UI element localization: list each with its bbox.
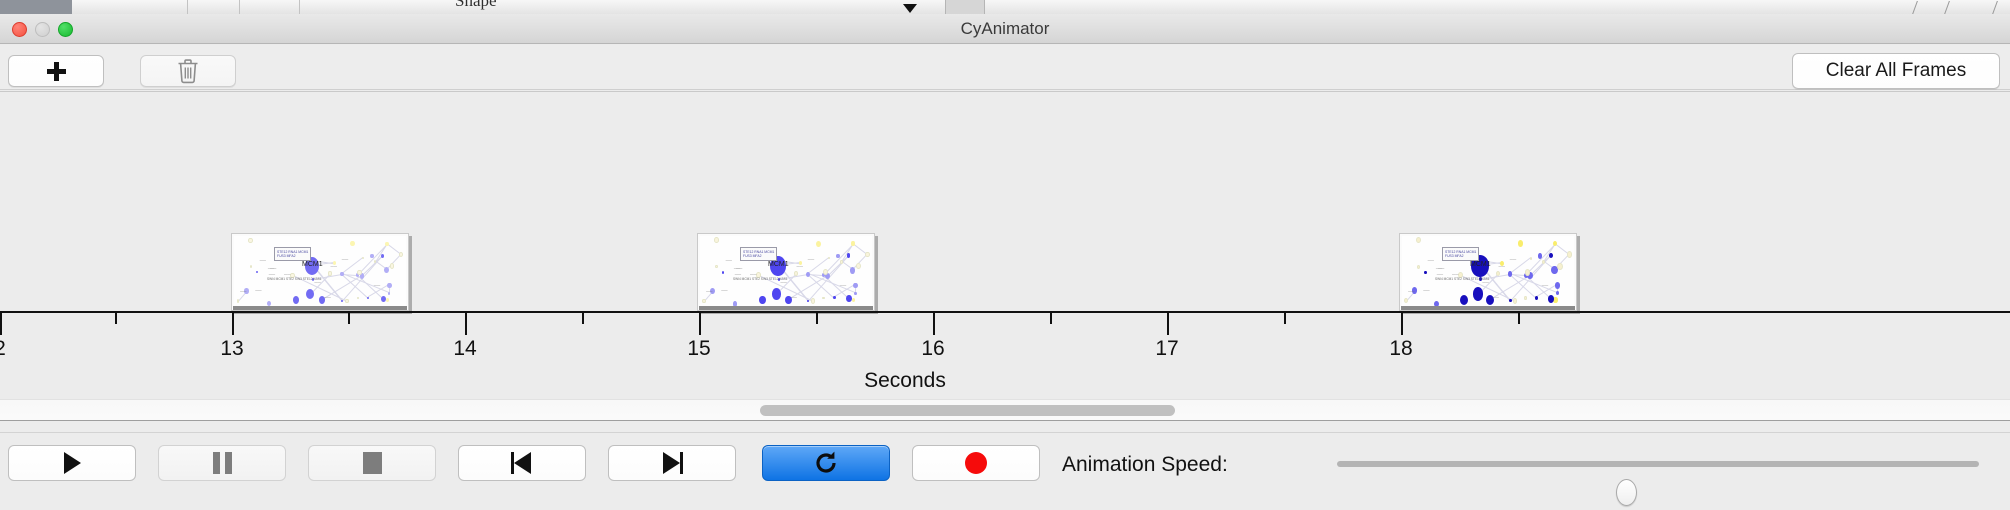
network-node	[390, 263, 394, 269]
play-icon	[64, 452, 81, 474]
network-node	[714, 237, 718, 243]
stop-icon	[363, 452, 382, 474]
network-node	[1542, 260, 1545, 264]
record-button[interactable]	[912, 445, 1040, 481]
stop-button[interactable]	[308, 445, 436, 481]
timeline-tick-major	[1401, 313, 1403, 335]
network-node-label: ——	[1510, 257, 1516, 261]
network-node	[772, 288, 781, 299]
playback-control-bar: Animation Speed:	[0, 432, 2010, 510]
animation-speed-slider[interactable]	[1337, 461, 1979, 467]
keyframe-thumbnail[interactable]: ————————————————————————STE12 RNA1 MCM1 …	[231, 233, 409, 311]
network-node-label: ——	[721, 288, 727, 292]
keyframe-network-view: ————————————————————————STE12 RNA1 MCM1 …	[700, 236, 872, 308]
background-window-label: Shape	[455, 0, 497, 11]
timeline-scrollbar-thumb[interactable]	[760, 405, 1175, 416]
window-title: CyAnimator	[0, 14, 2010, 44]
network-node	[759, 296, 766, 305]
network-node-label: ——	[840, 283, 846, 287]
network-node	[1530, 257, 1532, 260]
network-node-label: ——	[1542, 283, 1548, 287]
network-node	[1417, 265, 1420, 269]
add-frame-button[interactable]	[8, 55, 104, 87]
delete-frame-button[interactable]	[140, 55, 236, 87]
background-window-slash-icon	[1908, 1, 1924, 14]
network-node	[1556, 291, 1559, 295]
network-node	[386, 298, 389, 302]
network-node	[388, 292, 390, 295]
timeline-tick-minor	[816, 313, 818, 324]
network-caption-label: SWI4 MCM1 STE2 SIN3 STE12 KSS1	[733, 277, 788, 281]
network-node-label: ——	[269, 272, 275, 276]
network-node	[385, 242, 388, 246]
cyanimator-window: Shape CyAnimator Clear All Frames	[0, 0, 2010, 510]
network-node	[350, 241, 354, 246]
network-node	[1509, 299, 1512, 302]
pause-icon	[213, 452, 232, 474]
network-node-label: ——	[331, 264, 337, 268]
network-node	[702, 299, 705, 303]
timeline-tick-major	[0, 313, 2, 335]
network-annotation-box: STE12 RNA1 MCM1 FUS3 MFA2	[1442, 247, 1479, 261]
network-node	[1555, 282, 1560, 289]
network-node-label: ——	[1428, 258, 1434, 262]
network-node	[722, 271, 724, 274]
timeline-tick-minor	[115, 313, 117, 324]
network-node	[306, 289, 314, 299]
network-node-label: ——	[268, 266, 274, 270]
keyframe-base-bar	[233, 306, 407, 310]
timeline-tick-major	[933, 313, 935, 335]
axis-title-label: Seconds	[864, 369, 946, 392]
timeline-tick-minor	[348, 313, 350, 324]
network-node	[840, 260, 843, 263]
network-node	[370, 254, 373, 258]
network-node	[345, 299, 349, 304]
network-node	[381, 254, 384, 258]
network-node	[381, 296, 386, 302]
timeline-tick-label: 13	[220, 337, 243, 361]
network-node-label: ——	[284, 272, 290, 276]
timeline-scrollbar[interactable]	[0, 399, 2010, 421]
timeline-tick-label: 14	[453, 337, 476, 361]
network-node-label: ——	[342, 257, 348, 261]
network-node-label: ——	[1437, 272, 1443, 276]
network-node	[1424, 271, 1426, 274]
trash-icon	[176, 58, 200, 84]
network-node-label: ——	[260, 258, 266, 262]
network-node	[850, 267, 855, 274]
network-annotation-box: STE12 RNA1 MCM1 FUS3 MFA2	[740, 247, 777, 261]
timeline-tick-minor	[582, 313, 584, 324]
network-node	[1473, 287, 1484, 301]
network-node	[853, 283, 858, 289]
network-node	[847, 253, 850, 257]
pause-button[interactable]	[158, 445, 286, 481]
network-node	[794, 271, 798, 276]
animation-speed-label: Animation Speed:	[1062, 453, 1228, 477]
keyframe-thumbnail[interactable]: ————————————————————————STE12 RNA1 MCM1 …	[697, 233, 875, 311]
network-node	[1460, 295, 1468, 306]
network-node	[852, 298, 855, 302]
network-node	[1557, 263, 1563, 270]
network-node	[1549, 253, 1553, 258]
network-node	[806, 272, 810, 277]
timeline-tick-major	[699, 313, 701, 335]
network-node-label: ——	[706, 289, 712, 293]
background-window-slash-icon	[1940, 1, 1956, 14]
timeline-tick-major	[232, 313, 234, 335]
background-window-caret-icon	[903, 4, 917, 13]
skip-previous-icon	[511, 452, 533, 474]
timeline-tick-label: 18	[1389, 337, 1412, 361]
background-window-segment	[150, 0, 188, 14]
skip-to-start-button[interactable]	[458, 445, 586, 481]
network-node	[816, 241, 821, 247]
background-window-slash-icon	[1988, 1, 2004, 14]
network-caption-label: SWI4 MCM1 STE2 SIN3 STE12 KSS1	[267, 277, 322, 281]
timeline-tick-minor	[1518, 313, 1520, 324]
network-node	[1553, 297, 1557, 302]
network-node-label: ——	[726, 258, 732, 262]
animation-speed-slider-thumb[interactable]	[1616, 479, 1637, 506]
network-node	[1524, 296, 1527, 299]
loop-icon	[813, 450, 839, 476]
keyframe-network-view: ————————————————————————STE12 RNA1 MCM1 …	[234, 236, 406, 308]
network-node-label: ——	[1408, 289, 1414, 293]
network-node	[833, 296, 835, 299]
network-hub-label: MCM1	[1470, 261, 1491, 268]
plus-icon	[46, 61, 66, 81]
network-node-label: ——	[1423, 288, 1429, 292]
network-annotation-box: STE12 RNA1 MCM1 FUS3 MFA2	[274, 247, 311, 261]
network-node-label: ——	[808, 257, 814, 261]
network-node	[828, 257, 830, 260]
timeline-tick-major	[1167, 313, 1169, 335]
network-node	[1538, 253, 1542, 258]
network-node-label: ——	[797, 264, 803, 268]
network-node-label: ——	[1452, 272, 1458, 276]
network-node	[387, 283, 391, 288]
network-node	[1535, 296, 1538, 300]
clear-all-frames-label: Clear All Frames	[1826, 60, 1966, 82]
network-node	[328, 271, 331, 275]
network-node-label: ——	[255, 288, 261, 292]
network-node	[1513, 298, 1518, 304]
skip-next-icon	[661, 452, 683, 474]
network-node	[250, 265, 252, 268]
keyframe-thumbnail[interactable]: ————————————————————————STE12 RNA1 MCM1 …	[1399, 233, 1577, 311]
clear-all-frames-button[interactable]: Clear All Frames	[1792, 53, 2000, 89]
keyframe-base-bar	[699, 306, 873, 310]
keyframe-track[interactable]: ————————————————————————STE12 RNA1 MCM1 …	[0, 92, 2010, 311]
keyframe-network-view: ————————————————————————STE12 RNA1 MCM1 …	[1402, 236, 1574, 308]
network-node	[1404, 298, 1408, 303]
network-node	[248, 238, 252, 243]
keyframe-base-bar	[1401, 306, 1575, 310]
skip-to-end-button[interactable]	[608, 445, 736, 481]
network-caption-label: SWI4 MCM1 STE2 SIN3 STE12 KSS1	[1435, 277, 1490, 281]
timeline-tick-label: 16	[921, 337, 944, 361]
network-node	[384, 267, 389, 273]
network-node	[367, 297, 369, 300]
network-node	[1567, 251, 1572, 258]
network-node	[822, 297, 824, 300]
timeline-panel: ————————————————————————STE12 RNA1 MCM1 …	[0, 91, 2010, 402]
timeline-tick-minor	[1050, 313, 1052, 324]
network-node	[851, 241, 854, 245]
timeline-tick-major	[465, 313, 467, 335]
network-node	[357, 297, 359, 300]
network-node	[362, 257, 364, 259]
network-node	[836, 254, 839, 258]
title-bar: CyAnimator	[0, 14, 2010, 44]
background-window-field	[945, 0, 985, 14]
timeline-tick-label: 2	[0, 337, 6, 361]
network-node-label: ——	[324, 295, 330, 299]
network-node	[1518, 240, 1524, 247]
timeline-tick-minor	[1284, 313, 1286, 324]
timeline-tick-label: 17	[1155, 337, 1178, 361]
network-node-label: ——	[240, 289, 246, 293]
network-node	[854, 292, 856, 295]
network-node	[811, 298, 815, 303]
timeline-tick-label: 15	[687, 337, 710, 361]
network-node-label: ——	[374, 283, 380, 287]
network-node-label: ——	[1436, 266, 1442, 270]
network-node	[357, 270, 361, 275]
network-node	[293, 296, 299, 304]
toolbar: Clear All Frames	[0, 45, 2010, 90]
network-hub-label: MCM1	[768, 261, 789, 268]
network-node-label: ——	[1492, 295, 1498, 299]
network-node	[715, 265, 718, 268]
network-node-label: ——	[734, 266, 740, 270]
timeline-axis	[0, 311, 2010, 313]
network-node	[865, 252, 870, 258]
network-node	[256, 271, 258, 273]
background-window-segment	[248, 0, 300, 14]
play-button[interactable]	[8, 445, 136, 481]
network-node	[856, 263, 861, 269]
network-node-label: ——	[1499, 264, 1505, 268]
background-window-strip: Shape	[0, 0, 2010, 14]
network-node-label: ——	[735, 272, 741, 276]
network-node-label: ——	[790, 295, 796, 299]
loop-button[interactable]	[762, 445, 890, 481]
network-hub-label: MCM1	[302, 261, 323, 268]
network-node	[846, 295, 852, 302]
network-node	[1416, 237, 1421, 244]
background-window-segment	[192, 0, 240, 14]
record-icon	[965, 452, 987, 474]
network-node-label: ——	[750, 272, 756, 276]
network-node	[399, 252, 403, 257]
background-window-sidebar	[0, 0, 72, 14]
axis-title: Seconds	[0, 369, 2010, 393]
